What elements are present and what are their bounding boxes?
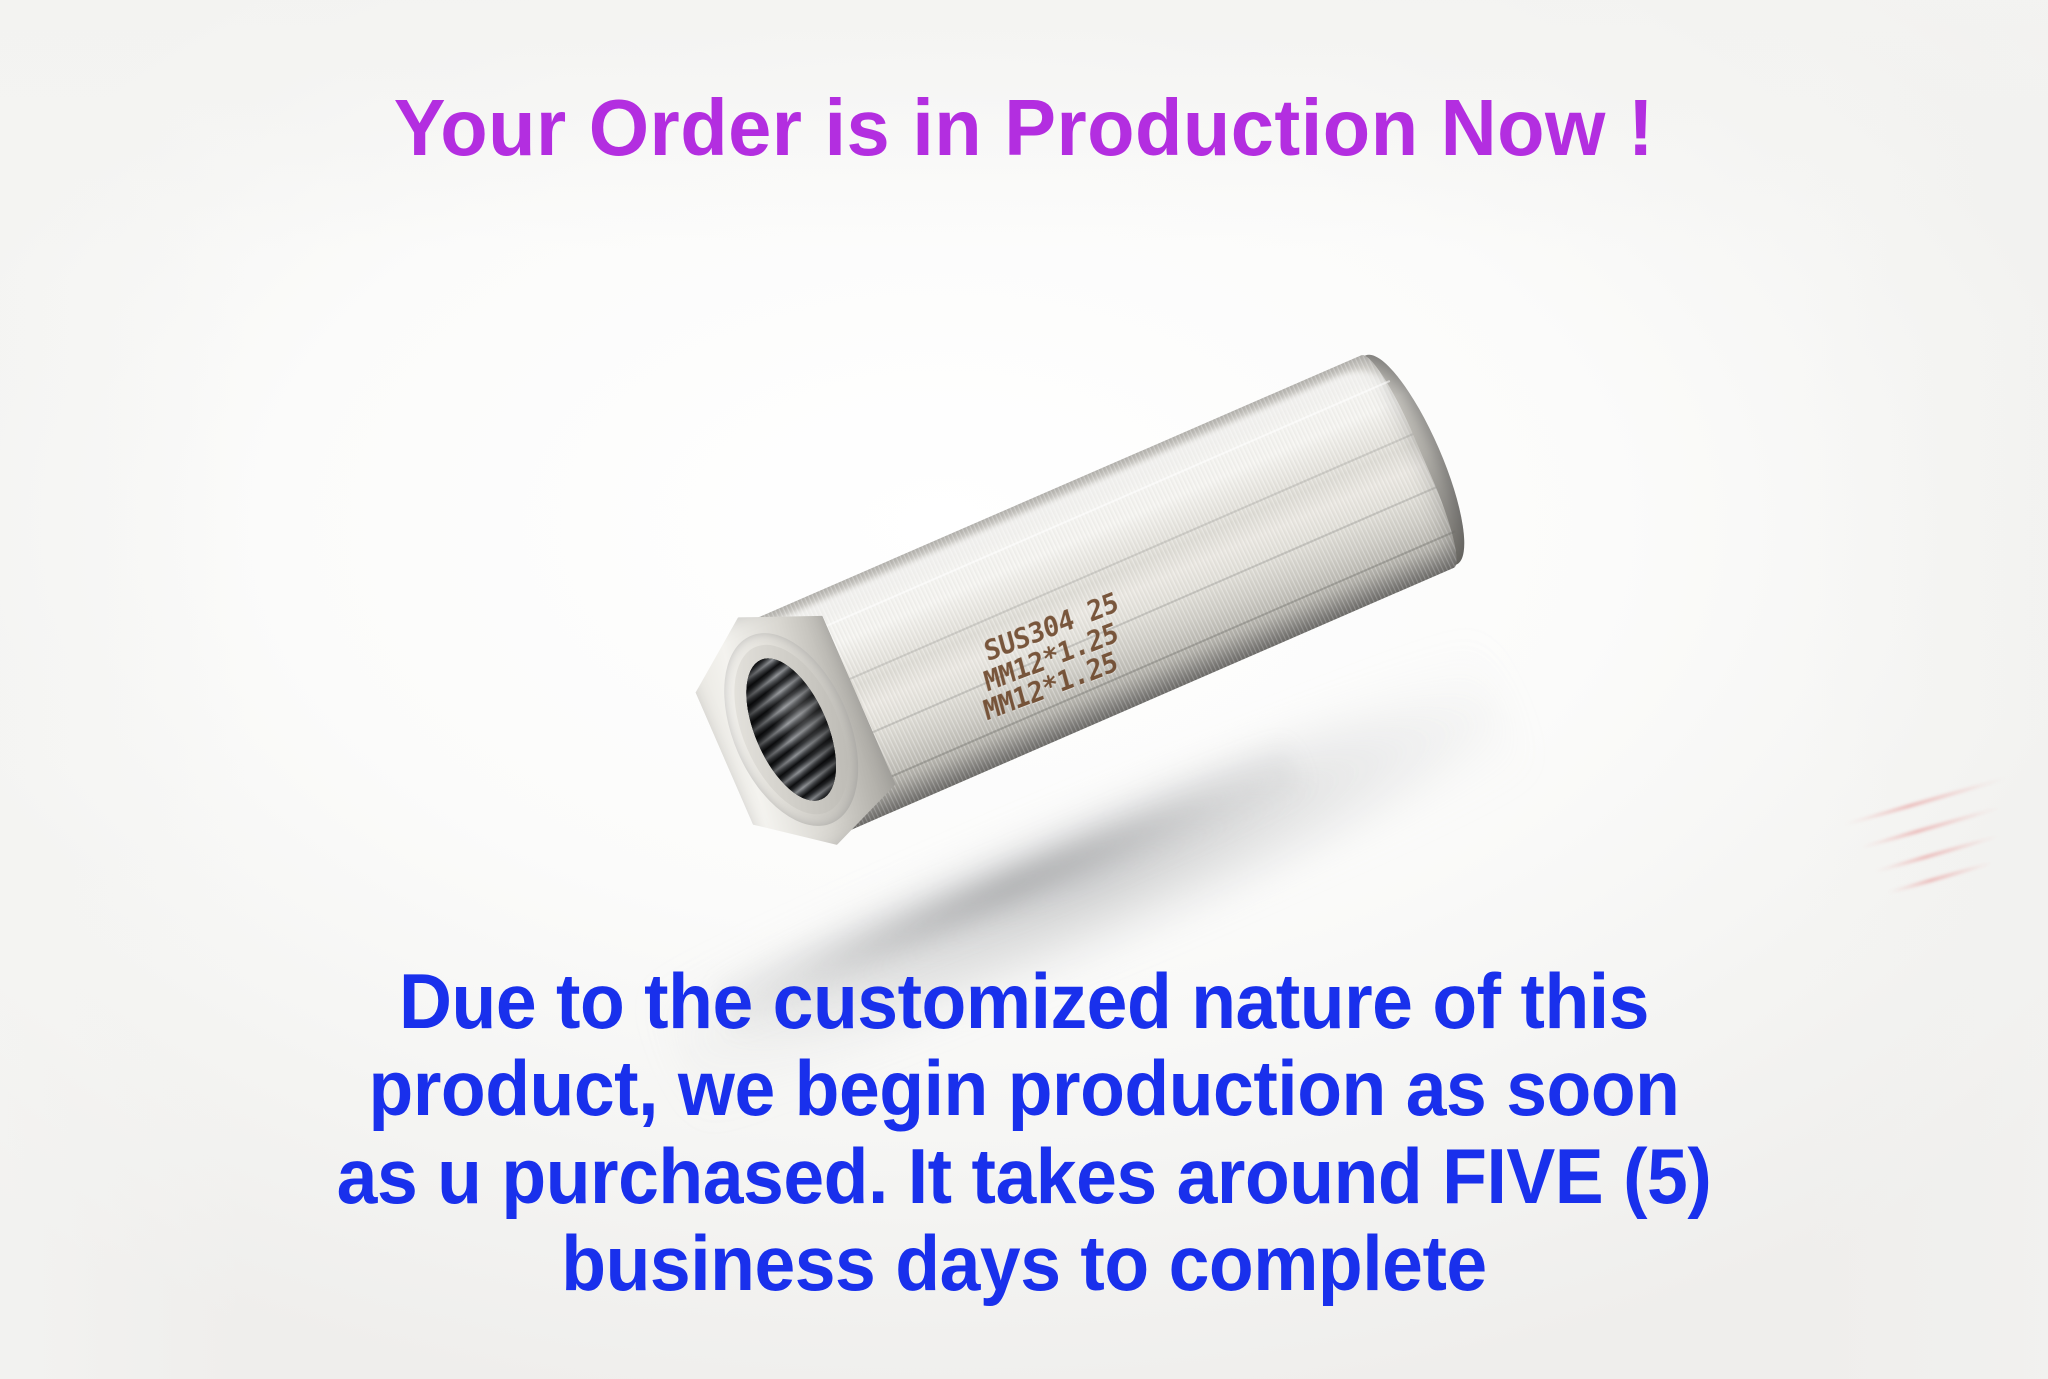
production-notice: Due to the customized nature of this pro… bbox=[61, 958, 1986, 1307]
page-title: Your Order is in Production Now ! bbox=[31, 88, 2018, 168]
notice-line: product, we begin production as soon bbox=[61, 1045, 1986, 1132]
notice-line: as u purchased. It takes around FIVE (5) bbox=[61, 1133, 1986, 1220]
notice-line: business days to complete bbox=[61, 1220, 1986, 1307]
notice-line: Due to the customized nature of this bbox=[61, 958, 1986, 1045]
promo-banner: Your Order is in Production Now ! SUS304… bbox=[0, 0, 2048, 1379]
